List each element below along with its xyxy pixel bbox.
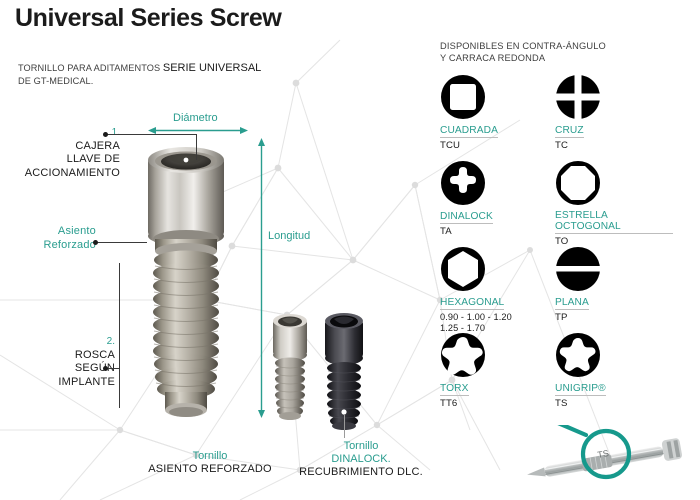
intro-line1-series: SERIE UNIVERSAL [163,62,261,74]
caption-dinalock-dlc: Tornillo DINALOCK. RECUBRIMIENTO DLC. [288,440,434,479]
dinalock-caption-leader [344,414,345,438]
connection-cell-dinalock[interactable]: DINALOCK TA [440,160,558,237]
octagon-socket-icon [555,160,601,206]
connection-cell-plana[interactable]: PLANA TP [555,246,673,323]
connection-cell-cruz[interactable]: CRUZ TC [555,74,673,151]
callout-rosca-dot [103,366,108,371]
hexagon-socket-icon [440,246,486,292]
callout-asiento-leader [97,242,147,243]
connection-cell-hexagonal[interactable]: HEXAGONAL 0.90 - 1.00 - 1.20 1.25 - 1.70 [440,246,558,334]
cross-socket-icon [555,74,601,120]
connection-cell-estrella-octogonal[interactable]: ESTRELLA OCTOGONAL TO [555,160,673,247]
callout-cajera-line1: CAJERA [10,140,120,154]
length-dimension-arrow [256,138,267,418]
titanium-screw-image [268,310,312,440]
torx-socket-icon [440,332,486,378]
callout-rosca-line2: SEGÚN [10,362,115,376]
intro-line1-prefix: TORNILLO PARA ADITAMENTOS [18,63,160,73]
callout-rosca-number: 2. [10,335,115,349]
connection-dims-hexagonal: 0.90 - 1.00 - 1.20 1.25 - 1.70 [440,312,558,334]
connection-label-estrella-octogonal: ESTRELLA OCTOGONAL [555,210,673,234]
connection-label-torx: TORX [440,383,469,396]
square-socket-icon [440,74,486,120]
callout-asiento-line2: Reforzado [18,239,96,253]
caption2-dark: RECUBRIMIENTO DLC. [288,466,434,479]
connection-label-hexagonal: HEXAGONAL [440,297,504,310]
callout-cajera-leader-v [196,134,197,160]
callout-rosca-line3: IMPLANTE [10,376,115,390]
driver-tip-marker: TS [597,448,610,460]
callout-cajera-line3: ACCIONAMIENTO [10,167,120,181]
unigrip-socket-icon [555,332,601,378]
connection-label-dinalock: DINALOCK [440,211,493,224]
poster-canvas: Universal Series Screw TORNILLO PARA ADI… [0,0,700,500]
connection-code-torx: TT6 [440,398,558,409]
connection-label-cruz: CRUZ [555,125,584,138]
connection-code-plana: TP [555,312,673,323]
dinalock-socket-icon [440,160,486,206]
availability-line2: Y CARRACA REDONDA [440,52,606,64]
diameter-label: Diámetro [173,112,218,124]
callout-cajera-dot [103,132,108,137]
connection-code-cruz: TC [555,140,673,151]
callout-cajera-leader-h [107,134,197,135]
callout-cajera-line2: LLAVE DE [10,153,120,167]
connection-cell-torx[interactable]: TORX TT6 [440,332,558,409]
connection-cell-cuadrada[interactable]: CUADRADA TCU [440,74,558,151]
intro-text: TORNILLO PARA ADITAMENTOS SERIE UNIVERSA… [18,62,261,87]
intro-line2: DE GT-MEDICAL. [18,75,261,88]
callout-asiento: Asiento Reforzado [18,225,96,252]
flat-slot-socket-icon [555,246,601,292]
callout-asiento-line1: Asiento [18,225,96,239]
callout-asiento-dot [93,240,98,245]
screwdriver-image: TS [520,425,700,497]
main-screw-image [133,140,239,430]
availability-line1: DISPONIBLES EN CONTRA-ÁNGULO [440,40,606,52]
caption2-teal2: DINALOCK. [288,453,434,466]
connection-label-plana: PLANA [555,297,589,310]
connection-cell-unigrip[interactable]: UNIGRIP® TS [555,332,673,409]
page-title: Universal Series Screw [15,4,281,33]
connection-label-cuadrada: CUADRADA [440,125,498,138]
callout-rosca: 2. ROSCA SEGÚN IMPLANTE [10,335,115,389]
connection-code-dinalock: TA [440,226,558,237]
callout-rosca-line1: ROSCA [10,349,115,363]
availability-header: DISPONIBLES EN CONTRA-ÁNGULO Y CARRACA R… [440,40,606,64]
length-label: Longitud [268,230,310,242]
callout-rosca-bracket [119,263,120,408]
caption2-teal1: Tornillo [288,440,434,453]
connection-code-cuadrada: TCU [440,140,558,151]
connection-code-unigrip: TS [555,398,673,409]
connection-label-unigrip: UNIGRIP® [555,383,606,396]
